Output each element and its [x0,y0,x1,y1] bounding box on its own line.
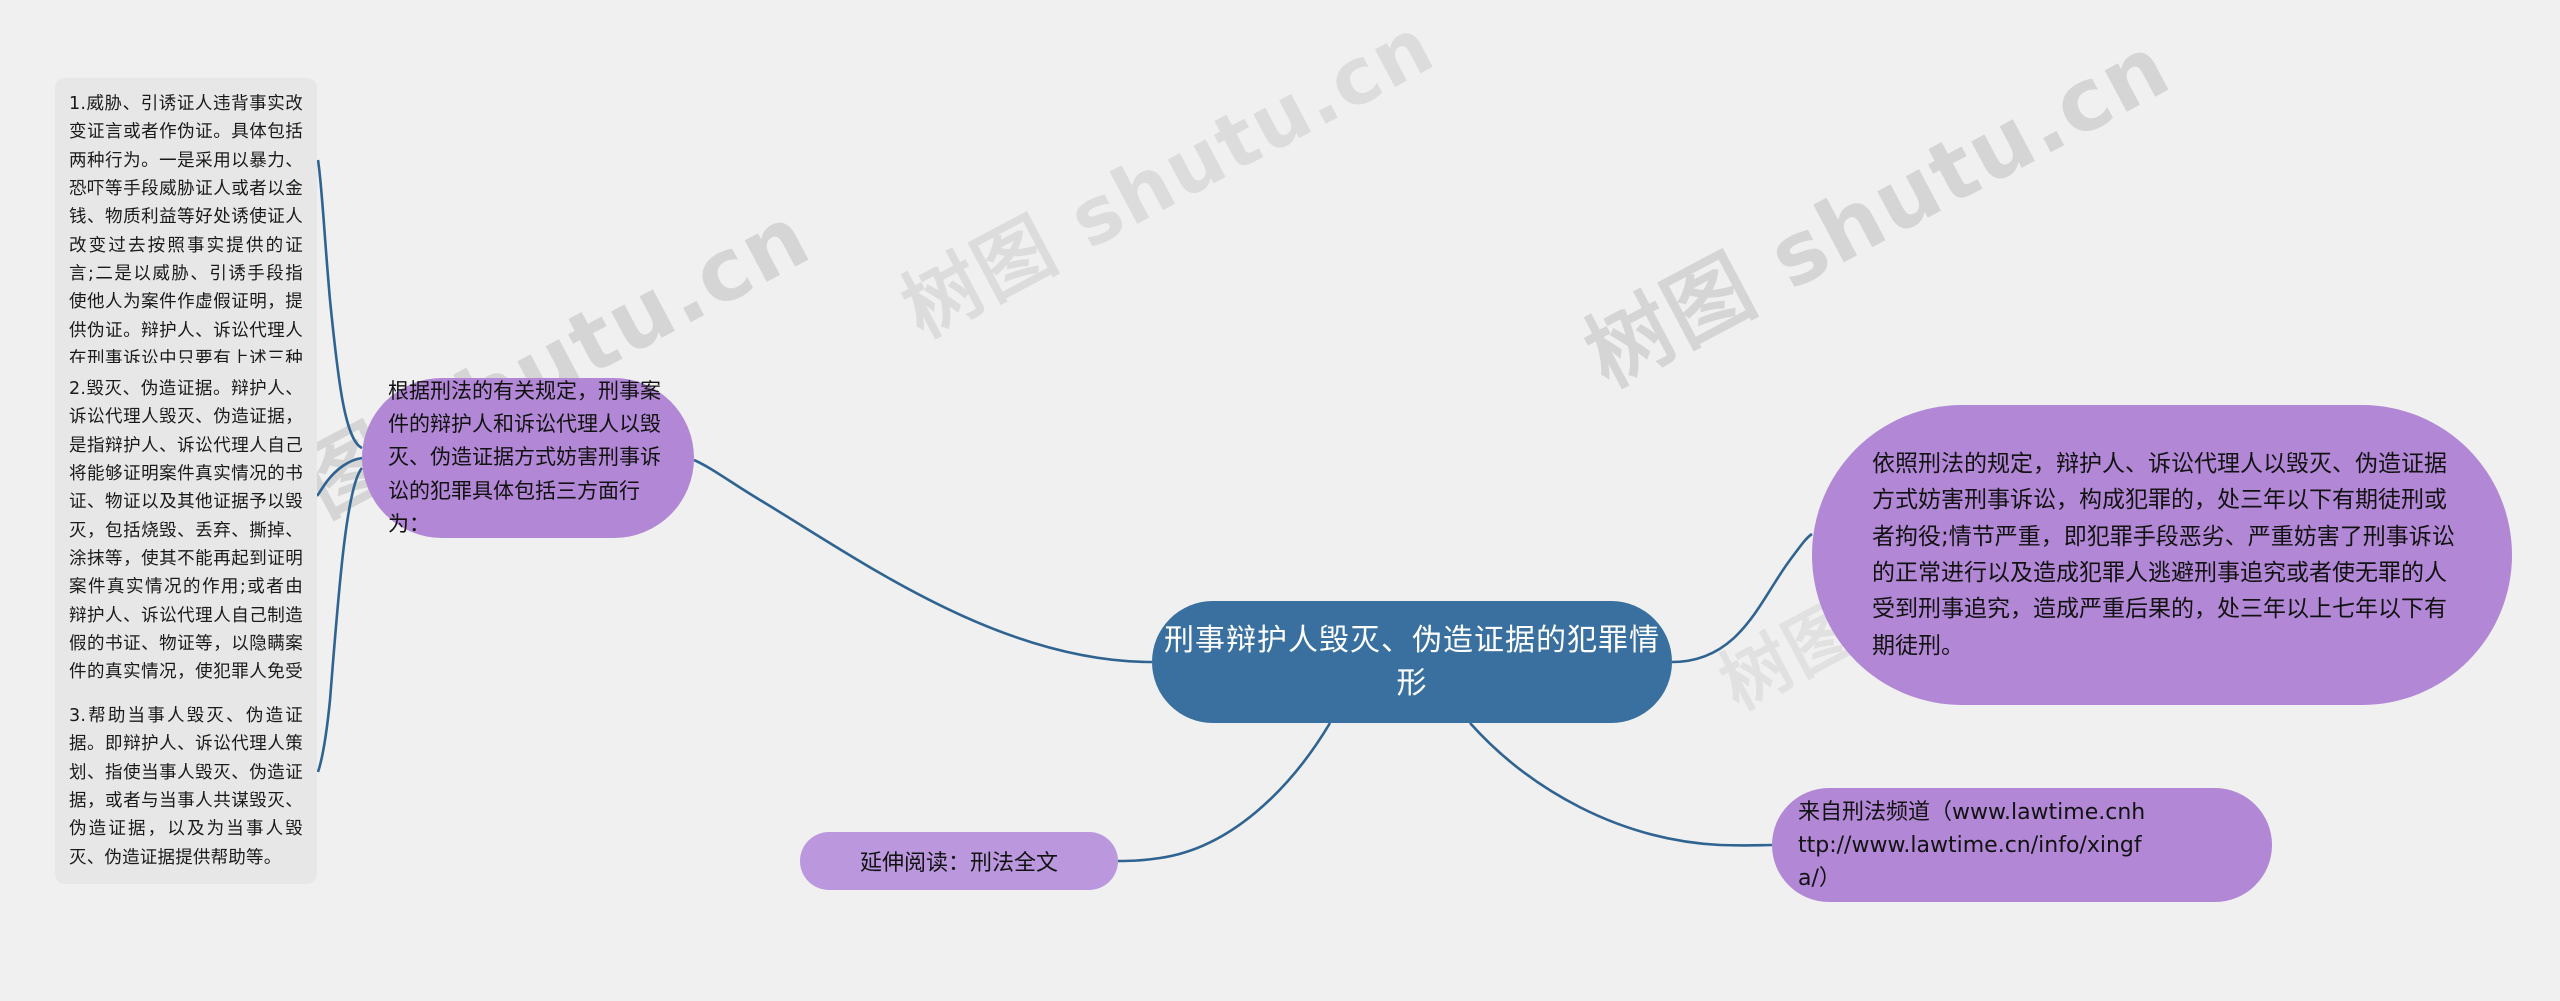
branch-right-penalty-text: 依照刑法的规定，辩护人、诉讼代理人以毁灭、伪造证据方式妨害刑事诉讼，构成犯罪的，… [1872,446,2460,664]
watermark: 树图 shutu.cn [1560,0,2188,410]
branch-source-line-2: ttp://www.lawtime.cn/info/xingf [1798,829,2145,862]
branch-left-summary[interactable]: 根据刑法的有关规定，刑事案件的辩护人和诉讼代理人以毁灭、伪造证据方式妨害刑事诉讼… [362,378,694,538]
leaf-box-2-text: 2.毁灭、伪造证据。辩护人、诉讼代理人毁灭、伪造证据，是指辩护人、诉讼代理人自己… [69,379,303,739]
branch-source[interactable]: 来自刑法频道（www.lawtime.cnh ttp://www.lawtime… [1772,788,2272,902]
branch-source-text: 来自刑法频道（www.lawtime.cnh ttp://www.lawtime… [1798,796,2145,895]
branch-source-line-3: a/） [1798,862,2145,895]
branch-right-penalty[interactable]: 依照刑法的规定，辩护人、诉讼代理人以毁灭、伪造证据方式妨害刑事诉讼，构成犯罪的，… [1812,405,2512,705]
branch-extended-reading[interactable]: 延伸阅读：刑法全文 [800,832,1118,890]
leaf-box-3[interactable]: 3.帮助当事人毁灭、伪造证据。即辩护人、诉讼代理人策划、指使当事人毁灭、伪造证据… [55,690,317,884]
branch-source-line-1: 来自刑法频道（www.lawtime.cnh [1798,796,2145,829]
branch-left-summary-text: 根据刑法的有关规定，刑事案件的辩护人和诉讼代理人以毁灭、伪造证据方式妨害刑事诉讼… [388,375,668,541]
mindmap-canvas: 树图 shutu.cn 树图 shutu.cn 树图 shutu.cn 树图 s… [0,0,2560,1001]
leaf-box-1-text: 1.威胁、引诱证人违背事实改变证言或者作伪证。具体包括两种行为。一是采用以暴力、… [69,94,303,397]
branch-extended-reading-text: 延伸阅读：刑法全文 [860,845,1058,877]
root-node[interactable]: 刑事辩护人毁灭、伪造证据的犯罪情形 [1152,601,1672,723]
leaf-box-3-text: 3.帮助当事人毁灭、伪造证据。即辩护人、诉讼代理人策划、指使当事人毁灭、伪造证据… [69,706,303,868]
root-node-text: 刑事辩护人毁灭、伪造证据的犯罪情形 [1152,619,1672,706]
watermark: 树图 shutu.cn [880,0,1451,359]
